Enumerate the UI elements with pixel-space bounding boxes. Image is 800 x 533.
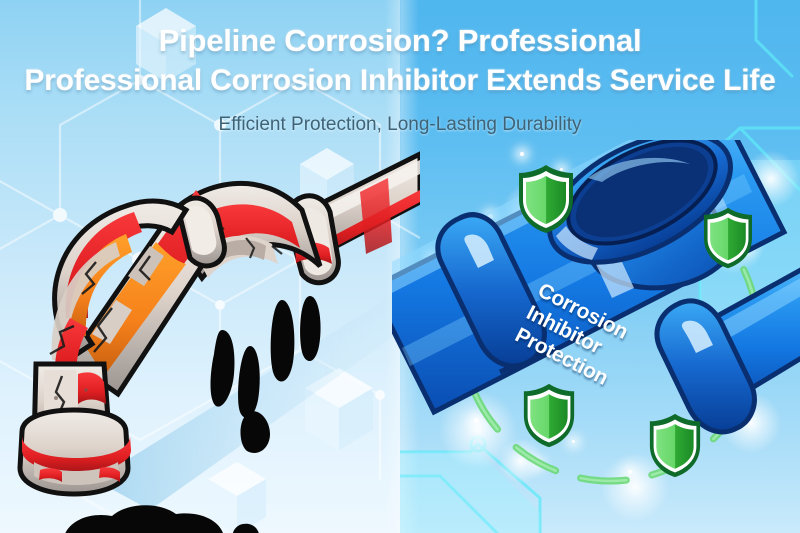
headline-line-1: Pipeline Corrosion? Professional [0, 20, 800, 62]
protected-blue-pipe-illustration [392, 140, 800, 533]
subtitle: Efficient Protection, Long-Lasting Durab… [0, 114, 800, 136]
shield-icon-top-right [700, 206, 756, 270]
shield-icon-bottom-right [646, 412, 704, 479]
headline-line-2: Professional Corrosion Inhibitor Extends… [0, 60, 800, 102]
oil-puddle [26, 505, 260, 533]
corroded-pipe-illustration [0, 150, 420, 533]
poster-canvas: Corrosion Inhibitor Protection [0, 0, 800, 533]
pipe-base-flange [20, 410, 131, 494]
shield-icon-bottom-left [520, 382, 578, 449]
shield-icon-top-left [515, 163, 577, 235]
